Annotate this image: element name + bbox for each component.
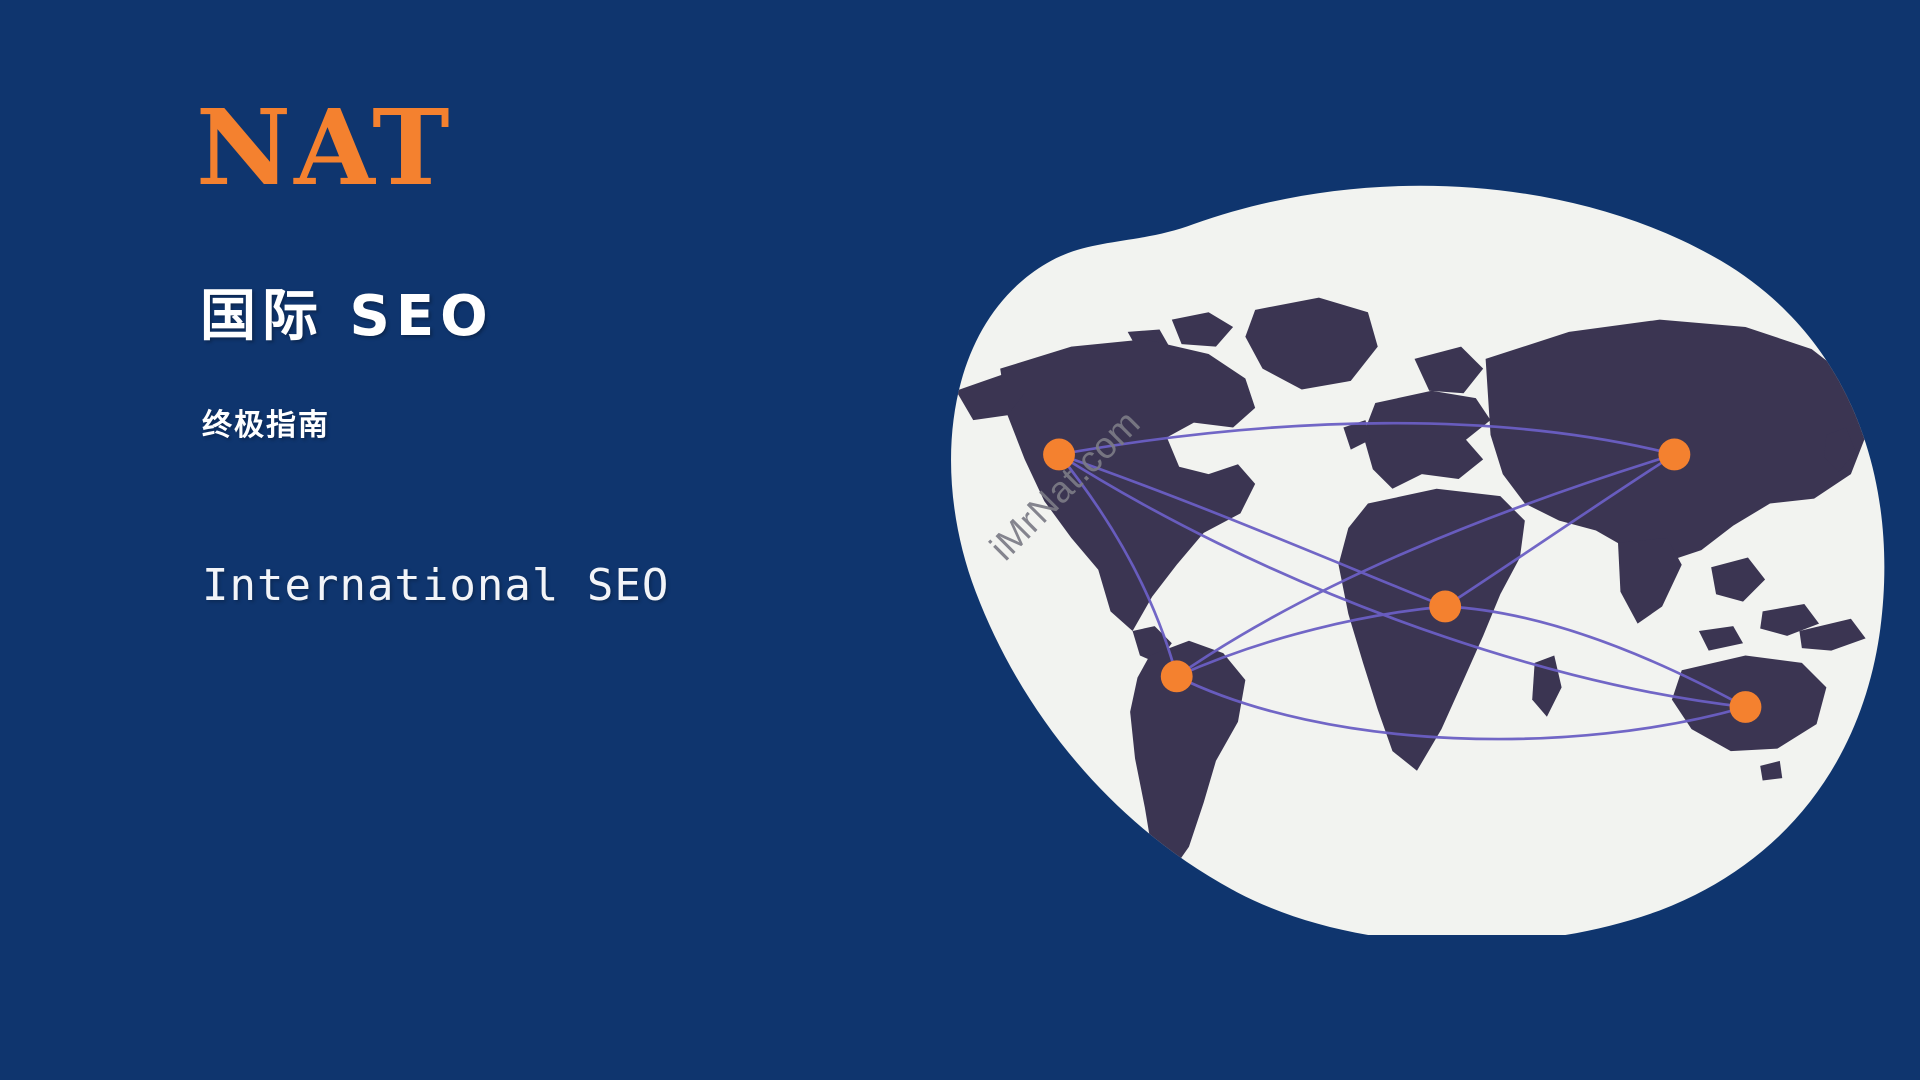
marker-south-america xyxy=(1161,660,1193,692)
page-subtitle-chinese: 终极指南 xyxy=(202,408,330,444)
marker-north-america xyxy=(1043,439,1075,471)
page-title-chinese: 国际 SEO xyxy=(200,286,494,348)
new-zealand-shape xyxy=(1851,744,1876,781)
title-block: NAT 国际 SEO 终极指南 International SEO xyxy=(196,96,896,200)
marker-central-africa xyxy=(1429,591,1461,623)
marker-australia xyxy=(1730,691,1762,723)
presentation-slide: NAT 国际 SEO 终极指南 International SEO xyxy=(0,0,1920,1080)
page-title-english: International SEO xyxy=(202,562,669,610)
marker-east-asia xyxy=(1658,439,1690,471)
world-map-illustration: iMrNat.com xyxy=(880,175,1900,935)
brand-logo: NAT xyxy=(196,96,896,200)
